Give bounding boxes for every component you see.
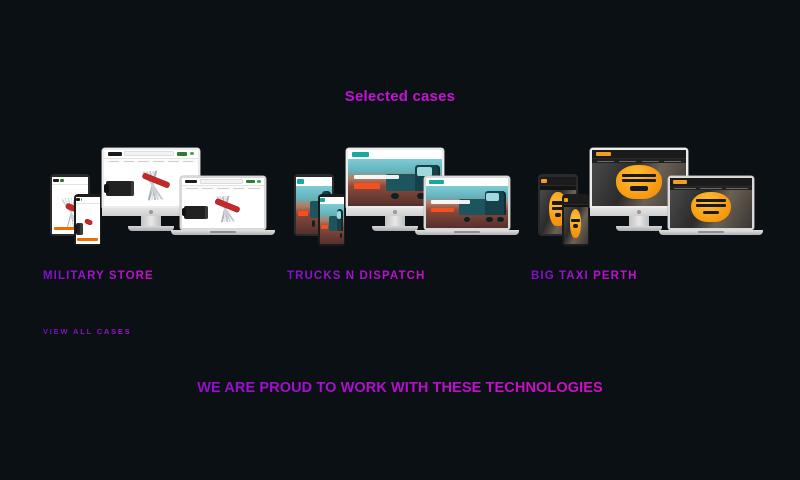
site-logo: [429, 180, 444, 184]
promo-bar: [77, 238, 98, 241]
multitool-blades: [206, 195, 245, 224]
site-logo: [673, 180, 687, 184]
truck-photo: [329, 209, 343, 238]
military-store-site-laptop: [182, 178, 264, 228]
multitool-blades: [131, 169, 176, 201]
case-card-big-taxi-perth[interactable]: BIG TAXI PERTH: [528, 144, 772, 294]
red-knife-handle: [85, 218, 93, 225]
wheelchair-accessible-badge: [691, 192, 730, 222]
site-logo: [541, 179, 547, 183]
wheelchair-accessible-badge: [570, 209, 582, 237]
case-title-trucks-n-dispatch: TRUCKS N DISPATCH: [287, 270, 425, 282]
wheelchair-accessible-badge: [616, 165, 661, 199]
site-logo: [108, 152, 122, 156]
hero-cta-button: [354, 183, 380, 188]
cases-row: MILITARY STORE: [0, 144, 800, 294]
hero-headline: [431, 200, 470, 204]
site-search-bar: [124, 151, 174, 156]
section-title-selected-cases: Selected cases: [0, 88, 800, 105]
account-icon: [81, 198, 82, 201]
site-search-bar: [200, 179, 244, 184]
scope-product: [76, 223, 83, 235]
hero-headline: [354, 175, 399, 179]
account-icon: [190, 152, 194, 155]
taxi-site-laptop: [670, 178, 752, 228]
phone-device: [318, 194, 345, 246]
site-logo: [76, 198, 80, 201]
site-logo: [185, 180, 197, 183]
hero-cta-button: [431, 208, 454, 213]
laptop-device: [668, 176, 754, 235]
site-logo: [564, 198, 568, 202]
cart-button: [60, 179, 64, 183]
military-store-site-phone: [76, 197, 100, 244]
site-logo: [297, 179, 304, 184]
technologies-heading: WE ARE PROUD TO WORK WITH THESE TECHNOLO…: [0, 380, 800, 396]
phone-device: [562, 194, 589, 246]
cart-button: [246, 180, 255, 183]
site-logo: [320, 198, 324, 202]
truck-photo: [459, 191, 507, 222]
case-card-military-store[interactable]: MILITARY STORE: [40, 144, 284, 294]
site-logo: [53, 179, 58, 183]
apple-logo-icon: [149, 210, 153, 214]
apple-logo-icon: [637, 210, 641, 214]
hero-cta-button: [298, 211, 308, 216]
scope-product: [106, 181, 134, 196]
apple-logo-icon: [393, 210, 397, 214]
site-logo: [596, 152, 612, 156]
scope-product: [184, 206, 209, 219]
laptop-device: [424, 176, 510, 235]
site-logo: [352, 152, 369, 157]
phone-device: [74, 194, 101, 246]
cart-button: [177, 152, 187, 156]
trucks-site-laptop: [426, 178, 508, 228]
case-title-military-store: MILITARY STORE: [43, 270, 154, 282]
trucks-n-dispatch-device-mockup: [284, 144, 509, 254]
big-taxi-perth-device-mockup: [528, 144, 753, 254]
account-icon: [257, 180, 261, 183]
trucks-site-phone: [320, 197, 344, 244]
hero-cta-button: [321, 225, 328, 229]
page-root: Selected cases: [0, 0, 800, 480]
case-title-big-taxi-perth: BIG TAXI PERTH: [531, 270, 638, 282]
case-card-trucks-n-dispatch[interactable]: TRUCKS N DISPATCH: [284, 144, 528, 294]
laptop-device: [180, 176, 266, 235]
military-store-device-mockup: [40, 144, 265, 254]
taxi-site-phone: [564, 197, 588, 244]
view-all-cases-link[interactable]: VIEW ALL CASES: [43, 327, 132, 336]
